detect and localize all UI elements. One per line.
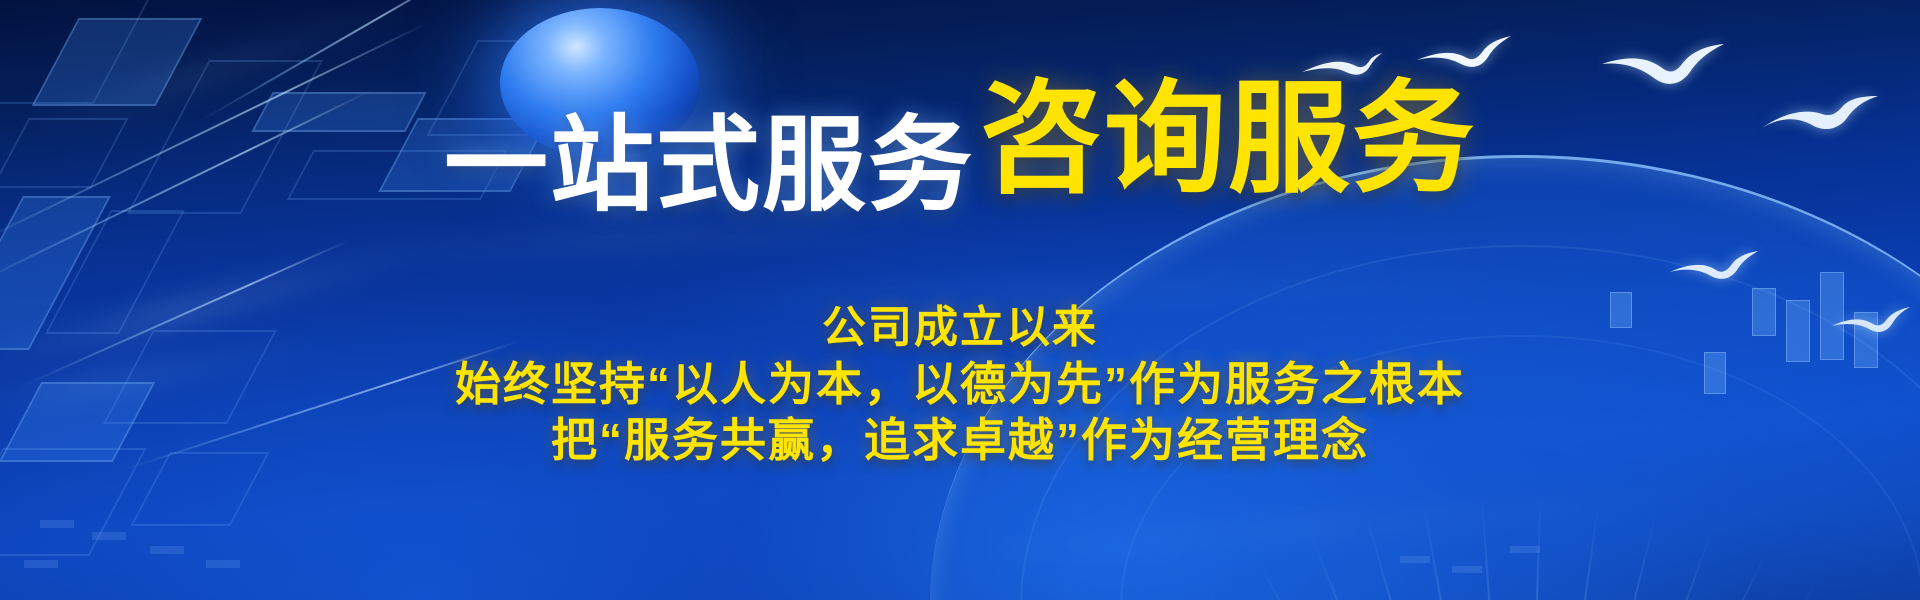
body-line: 把“服务共赢，追求卓越”作为经营理念 — [0, 412, 1920, 468]
fan-line — [1520, 551, 1767, 600]
fan-line — [1520, 511, 1657, 600]
headline: 一站式服务 咨询服务 — [0, 78, 1920, 200]
fan-line — [1520, 580, 1818, 600]
mosaic-dot — [150, 546, 184, 554]
fan-line — [1207, 590, 1522, 600]
mosaic-dot — [206, 560, 240, 568]
mosaic-dot — [1400, 556, 1430, 563]
body-line: 始终坚持“以人为本，以德为先”作为服务之根本 — [0, 356, 1920, 412]
fan-line — [1520, 500, 1600, 600]
fan-line — [1520, 528, 1713, 600]
mosaic-dot — [40, 520, 74, 528]
light-streak — [901, 489, 1800, 562]
headline-primary: 一站式服务 — [444, 114, 974, 218]
seagull-icon — [1668, 248, 1778, 286]
mosaic-dot — [92, 532, 126, 540]
fan-line — [1257, 560, 1522, 600]
headline-accent: 咨询服务 — [980, 78, 1476, 200]
mosaic-dot — [1510, 546, 1540, 553]
mosaic-dot — [24, 560, 58, 568]
fan-line — [1481, 496, 1522, 600]
body-copy: 公司成立以来 始终坚持“以人为本，以德为先”作为服务之根本 把“服务共赢，追求卓… — [0, 300, 1920, 468]
body-line: 公司成立以来 — [0, 300, 1920, 356]
fan-line — [1423, 503, 1522, 600]
fan-line — [1310, 535, 1522, 600]
mosaic-dot — [1452, 566, 1482, 573]
promo-banner: 一站式服务 咨询服务 公司成立以来 始终坚持“以人为本，以德为先”作为服务之根本… — [0, 0, 1920, 600]
fan-line — [1520, 495, 1542, 600]
fan-line — [1366, 516, 1522, 600]
